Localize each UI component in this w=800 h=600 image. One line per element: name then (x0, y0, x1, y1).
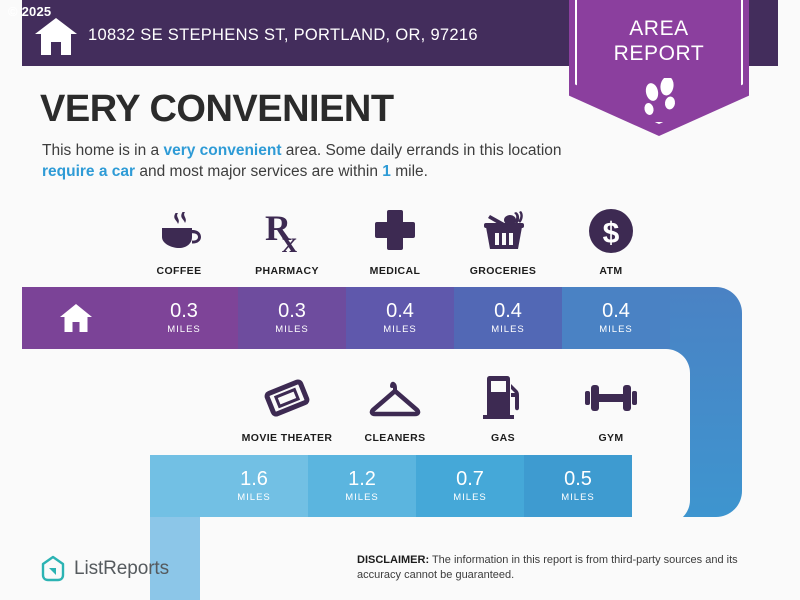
category-gas: GAS (449, 372, 557, 444)
bar-unit: MILES (167, 324, 201, 335)
bar-cell-atm: 0.4 MILES (562, 287, 670, 349)
badge-title: AREA REPORT (569, 16, 749, 66)
category-groceries: GROCERIES (449, 205, 557, 277)
bar-value: 0.4 (602, 301, 630, 322)
bar-cell-gas: 0.7 MILES (416, 455, 524, 517)
category-coffee: COFFEE (125, 205, 233, 277)
category-label: GYM (598, 432, 623, 444)
atm-icon: $ (587, 205, 635, 257)
bar-unit: MILES (275, 324, 309, 335)
category-medical: MEDICAL (341, 205, 449, 277)
listreports-logo[interactable]: ListReports (40, 555, 169, 583)
home-icon (34, 16, 78, 56)
bar-cell-medical: 0.4 MILES (346, 287, 454, 349)
category-label: COFFEE (157, 265, 202, 277)
pharmacy-icon: R x (265, 205, 309, 257)
listreports-logo-text: ListReports (74, 558, 169, 580)
category-icon-row-2: MOVIE THEATER CLEANERS (233, 372, 665, 444)
subtitle-highlight-car: require a car (42, 163, 135, 180)
category-cleaners: CLEANERS (341, 372, 449, 444)
subtitle-part1: This home is in a (42, 142, 163, 159)
category-label: GAS (491, 432, 515, 444)
groceries-icon (478, 205, 528, 257)
bar-value: 0.3 (278, 301, 306, 322)
category-pharmacy: R x PHARMACY (233, 205, 341, 277)
bar-unit: MILES (345, 492, 379, 503)
gas-pump-icon (481, 372, 525, 424)
bar-unit: MILES (453, 492, 487, 503)
disclaimer: DISCLAIMER: The information in this repo… (357, 553, 777, 583)
subtitle-part4: mile. (391, 163, 428, 180)
bar-row2-endcap (150, 455, 200, 517)
footprints-icon (569, 78, 749, 122)
bar-value: 0.7 (456, 469, 484, 490)
bar-cell-gym: 0.5 MILES (524, 455, 632, 517)
bar-value: 0.4 (386, 301, 414, 322)
listreports-logo-icon (40, 555, 66, 583)
category-label: ATM (599, 265, 622, 277)
bar-cell-pharmacy: 0.3 MILES (238, 287, 346, 349)
subtitle-part3: and most major services are within (135, 163, 382, 180)
bar-cell-cleaners: 1.2 MILES (308, 455, 416, 517)
bar-value: 0.4 (494, 301, 522, 322)
category-gym: GYM (557, 372, 665, 444)
bar-unit: MILES (599, 324, 633, 335)
bar-cell-groceries: 0.4 MILES (454, 287, 562, 349)
hanger-icon (369, 372, 421, 424)
category-label: MOVIE THEATER (242, 432, 333, 444)
distance-bar-row-2: 1.6 MILES 1.2 MILES 0.7 MILES 0.5 MILES (150, 455, 742, 517)
category-label: CLEANERS (365, 432, 426, 444)
badge-title-line1: AREA (569, 16, 749, 41)
distance-bar-row-1: 0.3 MILES 0.3 MILES 0.4 MILES 0.4 MILES … (22, 287, 742, 349)
dumbbell-icon (584, 372, 638, 424)
bar-unit: MILES (383, 324, 417, 335)
bar-cell-movie-theater: 1.6 MILES (200, 455, 308, 517)
category-label: MEDICAL (370, 265, 421, 277)
bar-home-cell (22, 287, 130, 349)
property-address: 10832 SE STEPHENS ST, PORTLAND, OR, 9721… (88, 26, 478, 45)
bar-value: 0.3 (170, 301, 198, 322)
movie-ticket-icon (263, 372, 311, 424)
category-icon-row-1: COFFEE R x PHARMACY MEDICAL (125, 205, 665, 277)
bar-cell-coffee: 0.3 MILES (130, 287, 238, 349)
page-title: VERY CONVENIENT (40, 88, 394, 131)
disclaimer-label: DISCLAIMER: (357, 554, 429, 566)
subtitle-part2: area. Some daily errands in this locatio… (282, 142, 562, 159)
badge-title-line2: REPORT (569, 41, 749, 66)
area-report-page: 0.3 MILES 0.3 MILES 0.4 MILES 0.4 MILES … (0, 0, 800, 600)
bar-value: 1.2 (348, 469, 376, 490)
category-label: PHARMACY (255, 265, 319, 277)
subtitle-highlight-convenience: very convenient (163, 142, 281, 159)
bar-value: 1.6 (240, 469, 268, 490)
page-subtitle: This home is in a very convenient area. … (42, 140, 562, 182)
svg-text:x: x (282, 226, 297, 254)
subtitle-highlight-miles: 1 (382, 163, 391, 180)
category-atm: $ ATM (557, 205, 665, 277)
bar-unit: MILES (237, 492, 271, 503)
medical-icon (374, 205, 416, 257)
category-label: GROCERIES (470, 265, 537, 277)
category-movie-theater: MOVIE THEATER (233, 372, 341, 444)
bar-value: 0.5 (564, 469, 592, 490)
home-icon (59, 303, 93, 333)
bar-unit: MILES (561, 492, 595, 503)
coffee-icon (156, 205, 202, 257)
bar-unit: MILES (491, 324, 525, 335)
svg-text:$: $ (603, 217, 620, 250)
